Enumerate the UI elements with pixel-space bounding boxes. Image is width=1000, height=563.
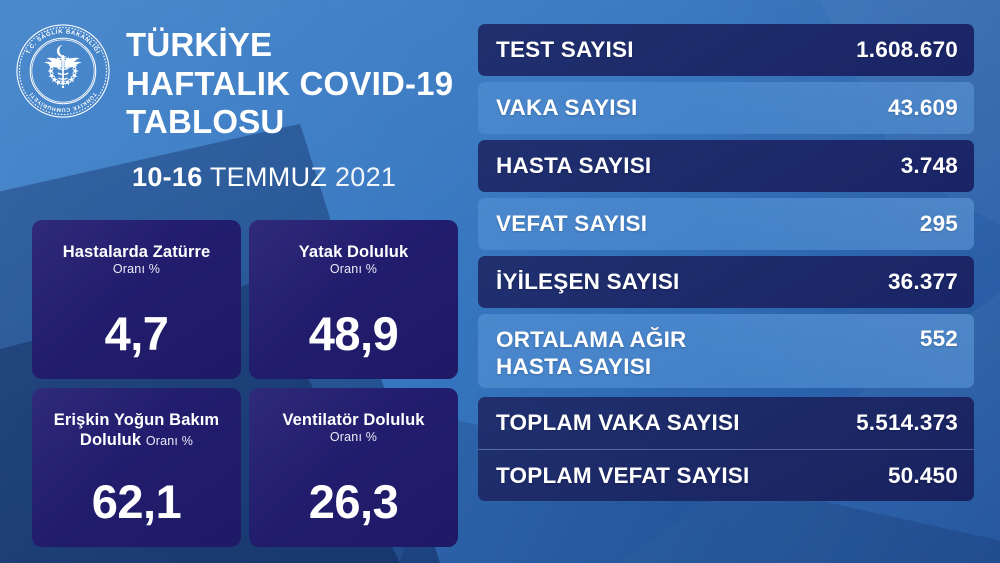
stat-row-label: TOPLAM VAKA SAYISI [496, 410, 740, 436]
date-range: 10-16 TEMMUZ 2021 [132, 162, 453, 193]
metric-card-label: Erişkin Yoğun Bakım [42, 410, 231, 430]
metric-card-label: Yatak Doluluk [259, 242, 448, 262]
metric-card-ventilator-occupancy-rate: Ventilatör Doluluk Oranı % 26,3 [249, 388, 458, 547]
stat-row-label: İYİLEŞEN SAYISI [496, 269, 679, 295]
stat-row-value: 295 [920, 211, 958, 237]
date-range-month: TEMMUZ [210, 162, 327, 192]
stat-row-average-critical-patient-count: ORTALAMA AĞIR HASTA SAYISI 552 [478, 314, 974, 388]
stat-row-patient-count: HASTA SAYISI 3.748 [478, 140, 974, 192]
stat-row-total-death-count: TOPLAM VEFAT SAYISI 50.450 [478, 449, 974, 501]
page-title: TÜRKİYE HAFTALIK COVID-19 TABLOSU [126, 26, 453, 142]
stat-row-case-count: VAKA SAYISI 43.609 [478, 82, 974, 134]
metric-card-value: 62,1 [32, 478, 241, 525]
covid-weekly-dashboard: T.C. SAĞLIK BAKANLIĞI TÜRKİYE CUMHURİYET… [0, 0, 1000, 563]
page-title-line-1: TÜRKİYE [126, 26, 453, 65]
stat-row-value: 3.748 [901, 153, 958, 179]
stat-row-label: ORTALAMA AĞIR HASTA SAYISI [496, 326, 687, 380]
metric-card-sublabel: Oranı % [259, 262, 448, 276]
stat-row-value: 50.450 [888, 463, 958, 489]
header-text: TÜRKİYE HAFTALIK COVID-19 TABLOSU 10-16 … [126, 22, 453, 193]
stat-row-value: 1.608.670 [856, 37, 958, 63]
page-title-line-3: TABLOSU [126, 103, 453, 142]
metric-card-label-2: Doluluk [80, 431, 141, 449]
stat-row-label: VAKA SAYISI [496, 95, 637, 121]
date-range-year: 2021 [335, 162, 396, 192]
metric-card-sublabel: Oranı % [146, 434, 193, 448]
stat-row-value: 43.609 [888, 95, 958, 121]
stat-row-label: TEST SAYISI [496, 37, 634, 63]
stat-row-label: TOPLAM VEFAT SAYISI [496, 463, 749, 489]
metric-card-adult-icu-occupancy-rate: Erişkin Yoğun Bakım Doluluk Oranı % 62,1 [32, 388, 241, 547]
stat-row-test-count: TEST SAYISI 1.608.670 [478, 24, 974, 76]
metric-card-value: 26,3 [249, 478, 458, 525]
stat-row-total-case-count: TOPLAM VAKA SAYISI 5.514.373 [478, 397, 974, 449]
stat-row-death-count: VEFAT SAYISI 295 [478, 198, 974, 250]
stat-row-value: 36.377 [888, 269, 958, 295]
statistics-panel: TEST SAYISI 1.608.670 VAKA SAYISI 43.609… [478, 24, 974, 501]
totals-block: TOPLAM VAKA SAYISI 5.514.373 TOPLAM VEFA… [478, 397, 974, 501]
metric-card-pneumonia-rate: Hastalarda Zatürre Oranı % 4,7 [32, 220, 241, 379]
metric-card-grid: Hastalarda Zatürre Oranı % 4,7 Yatak Dol… [32, 220, 458, 547]
metric-card-sublabel: Oranı % [259, 430, 448, 444]
header: T.C. SAĞLIK BAKANLIĞI TÜRKİYE CUMHURİYET… [14, 22, 453, 193]
date-range-days: 10-16 [132, 162, 203, 192]
stat-row-value: 5.514.373 [856, 410, 958, 436]
metric-card-label-line-2: Doluluk Oranı % [42, 430, 231, 450]
stat-row-label: HASTA SAYISI [496, 153, 651, 179]
left-column: T.C. SAĞLIK BAKANLIĞI TÜRKİYE CUMHURİYET… [0, 0, 470, 563]
stat-row-recovered-count: İYİLEŞEN SAYISI 36.377 [478, 256, 974, 308]
metric-card-sublabel: Oranı % [42, 262, 231, 276]
metric-card-label: Hastalarda Zatürre [42, 242, 231, 262]
metric-card-value: 48,9 [249, 310, 458, 357]
metric-card-bed-occupancy-rate: Yatak Doluluk Oranı % 48,9 [249, 220, 458, 379]
turkish-ministry-of-health-emblem-icon: T.C. SAĞLIK BAKANLIĞI TÜRKİYE CUMHURİYET… [14, 22, 112, 120]
page-title-line-2: HAFTALIK COVID-19 [126, 65, 453, 104]
metric-card-value: 4,7 [32, 310, 241, 357]
stat-row-value: 552 [920, 326, 958, 352]
stat-row-label: VEFAT SAYISI [496, 211, 647, 237]
metric-card-label: Ventilatör Doluluk [259, 410, 448, 430]
